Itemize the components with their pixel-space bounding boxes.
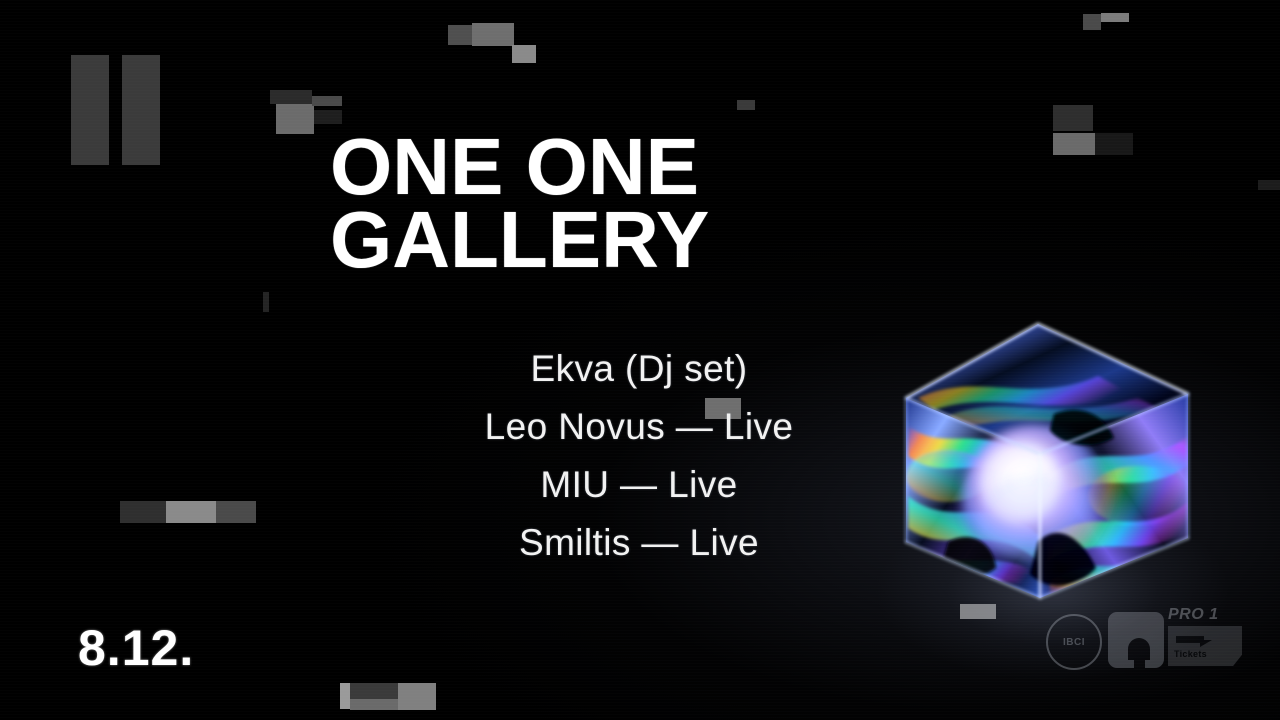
glitch-block: [960, 604, 996, 619]
sponsor-logos: IBCI PRO 1 Tickets: [1046, 606, 1246, 676]
glitch-block: [1101, 13, 1129, 22]
event-poster: ONE ONE GALLERY Ekva (Dj set)Leo Novus —…: [0, 0, 1280, 720]
ticket-arrow-icon: [1174, 633, 1218, 648]
glitch-block: [1053, 133, 1095, 155]
glitch-block: [1053, 105, 1093, 131]
glitch-block: [737, 100, 755, 110]
glitch-block: [350, 683, 398, 699]
title-line-2: GALLERY: [330, 204, 950, 276]
glitch-block: [71, 55, 109, 165]
event-date: 8.12.: [78, 623, 194, 673]
glitch-block: [276, 104, 314, 134]
lineup-item: Leo Novus — Live: [0, 398, 1278, 456]
tickets-sub-label: Tickets: [1174, 649, 1207, 659]
glitch-block: [1258, 180, 1280, 190]
glitch-block: [398, 683, 436, 710]
circle-badge-label: IBCI: [1063, 637, 1085, 648]
lineup-item: Smiltis — Live: [0, 514, 1278, 572]
lineup-item: MIU — Live: [0, 456, 1278, 514]
ticket-shape: Tickets: [1168, 626, 1242, 666]
glitch-block: [312, 96, 342, 106]
glitch-block: [1083, 14, 1101, 30]
circle-badge-logo[interactable]: IBCI: [1046, 614, 1102, 670]
glitch-block: [263, 292, 269, 312]
lineup-list: Ekva (Dj set)Leo Novus — LiveMIU — LiveS…: [0, 340, 1278, 572]
rounded-square-logo[interactable]: [1108, 612, 1164, 668]
poster-title: ONE ONE GALLERY: [330, 131, 950, 276]
glitch-block: [472, 23, 514, 46]
glitch-block: [340, 683, 350, 709]
glitch-block: [270, 90, 312, 104]
glitch-block: [122, 55, 160, 165]
glitch-block: [448, 25, 472, 45]
pro1-tickets-logo[interactable]: PRO 1 Tickets: [1168, 606, 1250, 670]
square-logo-stem: [1134, 652, 1145, 670]
glitch-block: [350, 699, 398, 710]
glitch-block: [1095, 133, 1133, 155]
title-line-1: ONE ONE: [330, 131, 950, 203]
lineup-item: Ekva (Dj set): [0, 340, 1278, 398]
glitch-block: [512, 45, 536, 63]
pro1-label: PRO 1: [1168, 606, 1250, 624]
